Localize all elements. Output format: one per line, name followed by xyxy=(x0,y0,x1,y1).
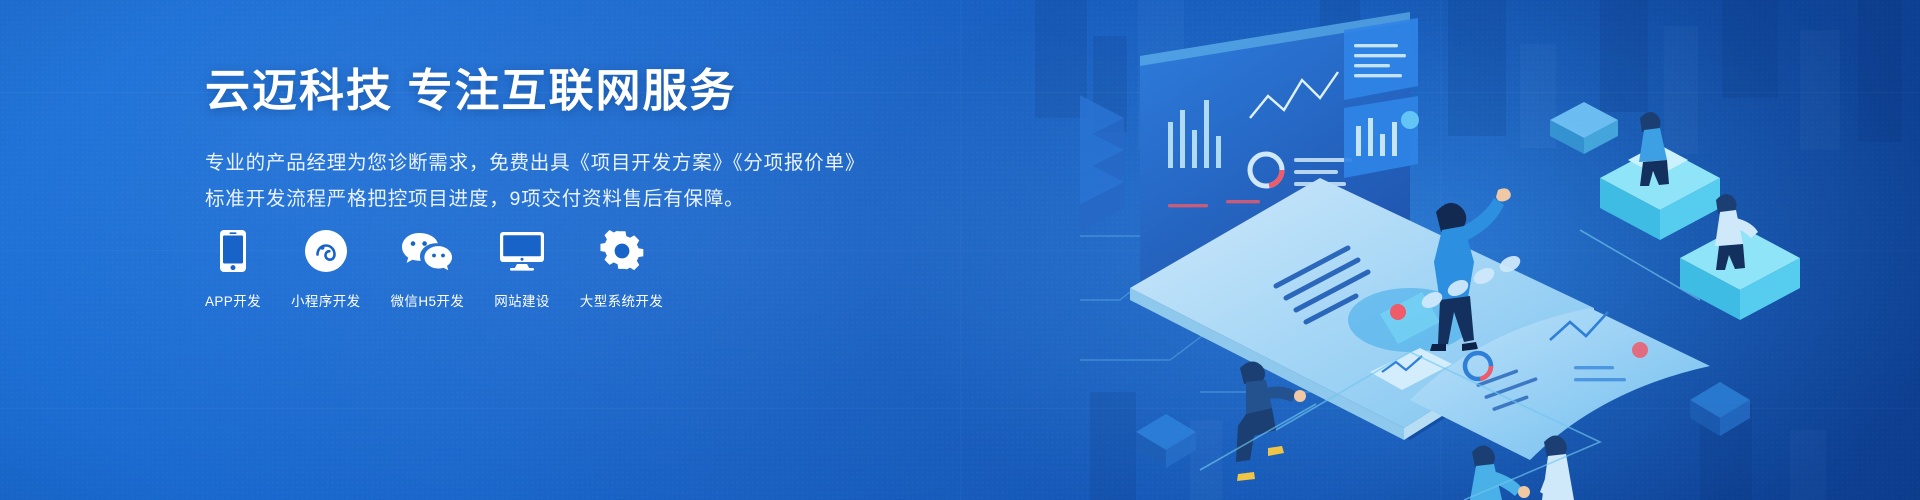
service-list: APP开发 小程序开发 xyxy=(205,228,663,310)
subtitle-line-1: 专业的产品经理为您诊断需求，免费出具《项目开发方案》《分项报价单》 xyxy=(205,145,905,181)
mini-program-icon xyxy=(304,228,348,274)
service-label: APP开发 xyxy=(205,290,261,310)
hero-banner: 云迈科技 专注互联网服务 专业的产品经理为您诊断需求，免费出具《项目开发方案》《… xyxy=(0,0,1920,500)
service-item-website[interactable]: 网站建设 xyxy=(494,228,550,310)
monitor-icon xyxy=(499,228,545,274)
grid-line xyxy=(960,0,961,500)
cyan-cubes xyxy=(1550,102,1800,320)
isometric-tech-dashboard-illustration xyxy=(1080,0,1920,500)
wechat-icon xyxy=(399,228,455,274)
subtitle-block: 专业的产品经理为您诊断需求，免费出具《项目开发方案》《分项报价单》 标准开发流程… xyxy=(205,145,905,217)
service-label: 网站建设 xyxy=(494,290,550,310)
service-item-mini-program[interactable]: 小程序开发 xyxy=(291,228,361,310)
service-item-app[interactable]: APP开发 xyxy=(205,228,261,310)
service-item-large-system[interactable]: 大型系统开发 xyxy=(580,228,663,310)
service-item-wechat-h5[interactable]: 微信H5开发 xyxy=(391,228,465,310)
service-label: 大型系统开发 xyxy=(580,290,663,310)
hero-copy: 云迈科技 专注互联网服务 专业的产品经理为您诊断需求，免费出具《项目开发方案》《… xyxy=(205,64,905,217)
gear-icon xyxy=(600,228,644,274)
mobile-phone-icon xyxy=(219,228,247,274)
server-stack xyxy=(1080,86,1124,240)
service-label: 微信H5开发 xyxy=(391,290,465,310)
page-title: 云迈科技 专注互联网服务 xyxy=(205,64,905,119)
service-label: 小程序开发 xyxy=(291,290,361,310)
subtitle-line-2: 标准开发流程严格把控项目进度，9项交付资料售后有保障。 xyxy=(205,181,905,217)
